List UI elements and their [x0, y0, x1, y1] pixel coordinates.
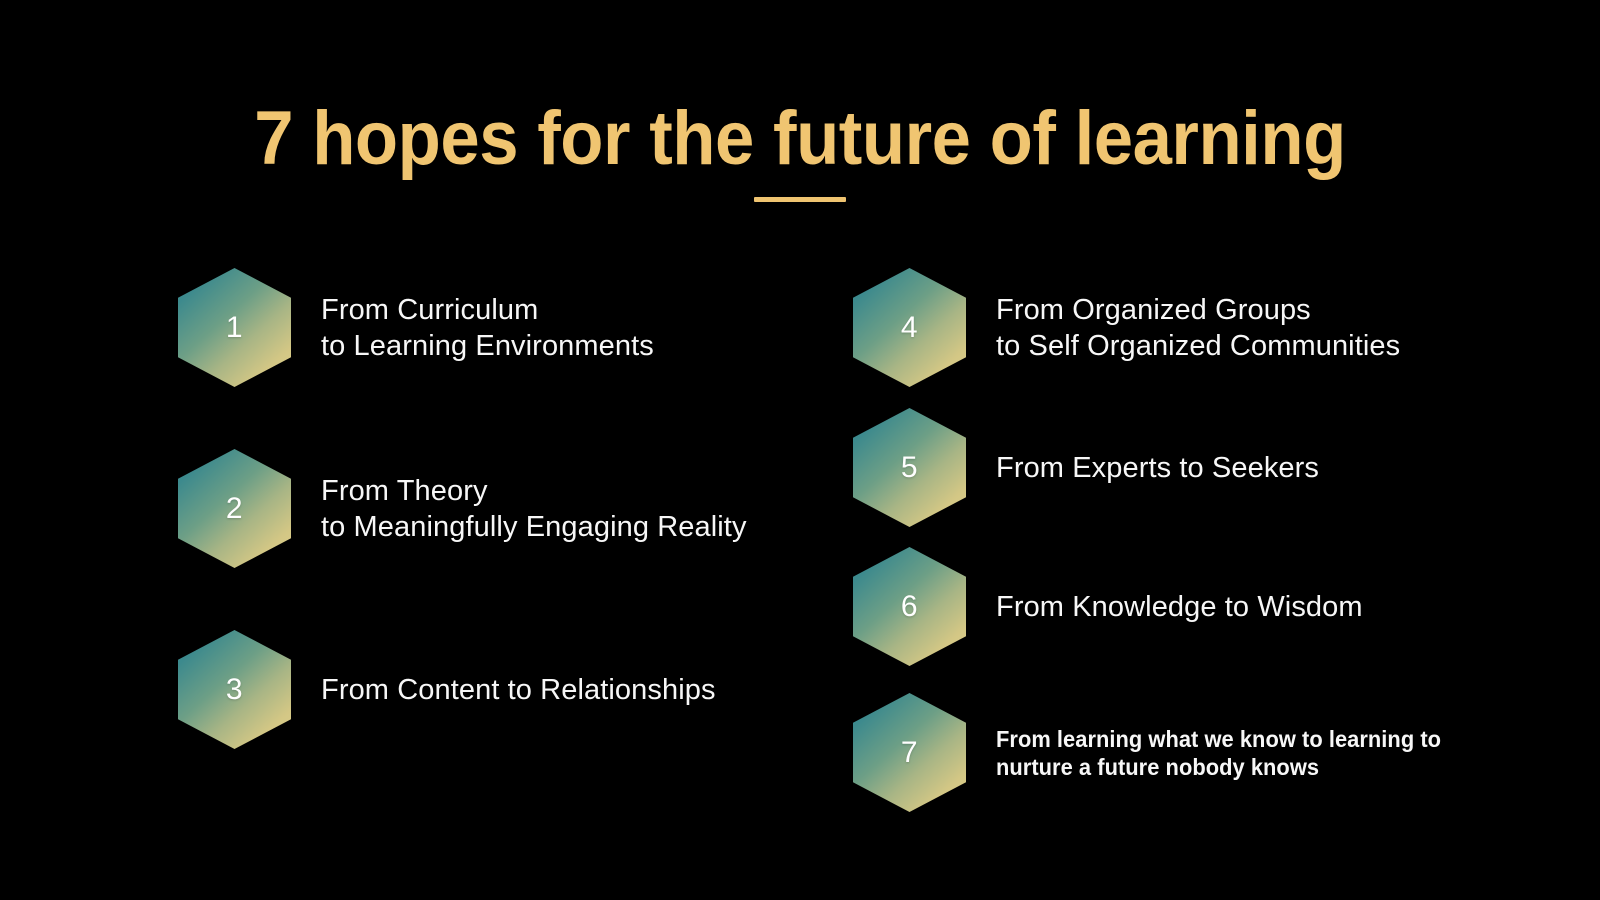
hope-number: 3	[178, 630, 291, 749]
hexagon-badge-3: 3	[178, 630, 291, 749]
hexagon-badge-5: 5	[853, 408, 966, 527]
hexagon-badge-7: 7	[853, 693, 966, 812]
slide-canvas: 7 hopes for the future of learning 1 Fro…	[0, 0, 1600, 900]
title-divider	[754, 197, 846, 202]
hope-label: From Organized Groups to Self Organized …	[996, 292, 1400, 364]
hope-number: 2	[178, 449, 291, 568]
hope-number: 1	[178, 268, 291, 387]
hope-item-5[interactable]: 5 From Experts to Seekers	[853, 408, 1319, 527]
hope-number: 4	[853, 268, 966, 387]
title-block: 7 hopes for the future of learning	[0, 96, 1600, 202]
hope-label: From learning what we know to learning t…	[996, 725, 1441, 781]
hope-item-4[interactable]: 4 From Organized Groups to Self Organize…	[853, 268, 1400, 387]
hope-item-6[interactable]: 6 From Knowledge to Wisdom	[853, 547, 1363, 666]
hexagon-badge-2: 2	[178, 449, 291, 568]
hexagon-badge-4: 4	[853, 268, 966, 387]
hope-number: 5	[853, 408, 966, 527]
hope-label: From Content to Relationships	[321, 672, 716, 708]
hope-label: From Theory to Meaningfully Engaging Rea…	[321, 473, 747, 545]
hope-label: From Knowledge to Wisdom	[996, 589, 1363, 625]
page-title: 7 hopes for the future of learning	[56, 96, 1544, 182]
hope-item-2[interactable]: 2 From Theory to Meaningfully Engaging R…	[178, 449, 747, 568]
hope-label: From Curriculum to Learning Environments	[321, 292, 654, 364]
hexagon-badge-6: 6	[853, 547, 966, 666]
hope-item-3[interactable]: 3 From Content to Relationships	[178, 630, 716, 749]
hope-item-7[interactable]: 7 From learning what we know to learning…	[853, 693, 1464, 812]
hope-number: 7	[853, 693, 966, 812]
hope-label: From Experts to Seekers	[996, 450, 1319, 486]
hope-number: 6	[853, 547, 966, 666]
hope-item-1[interactable]: 1 From Curriculum to Learning Environmen…	[178, 268, 654, 387]
hexagon-badge-1: 1	[178, 268, 291, 387]
